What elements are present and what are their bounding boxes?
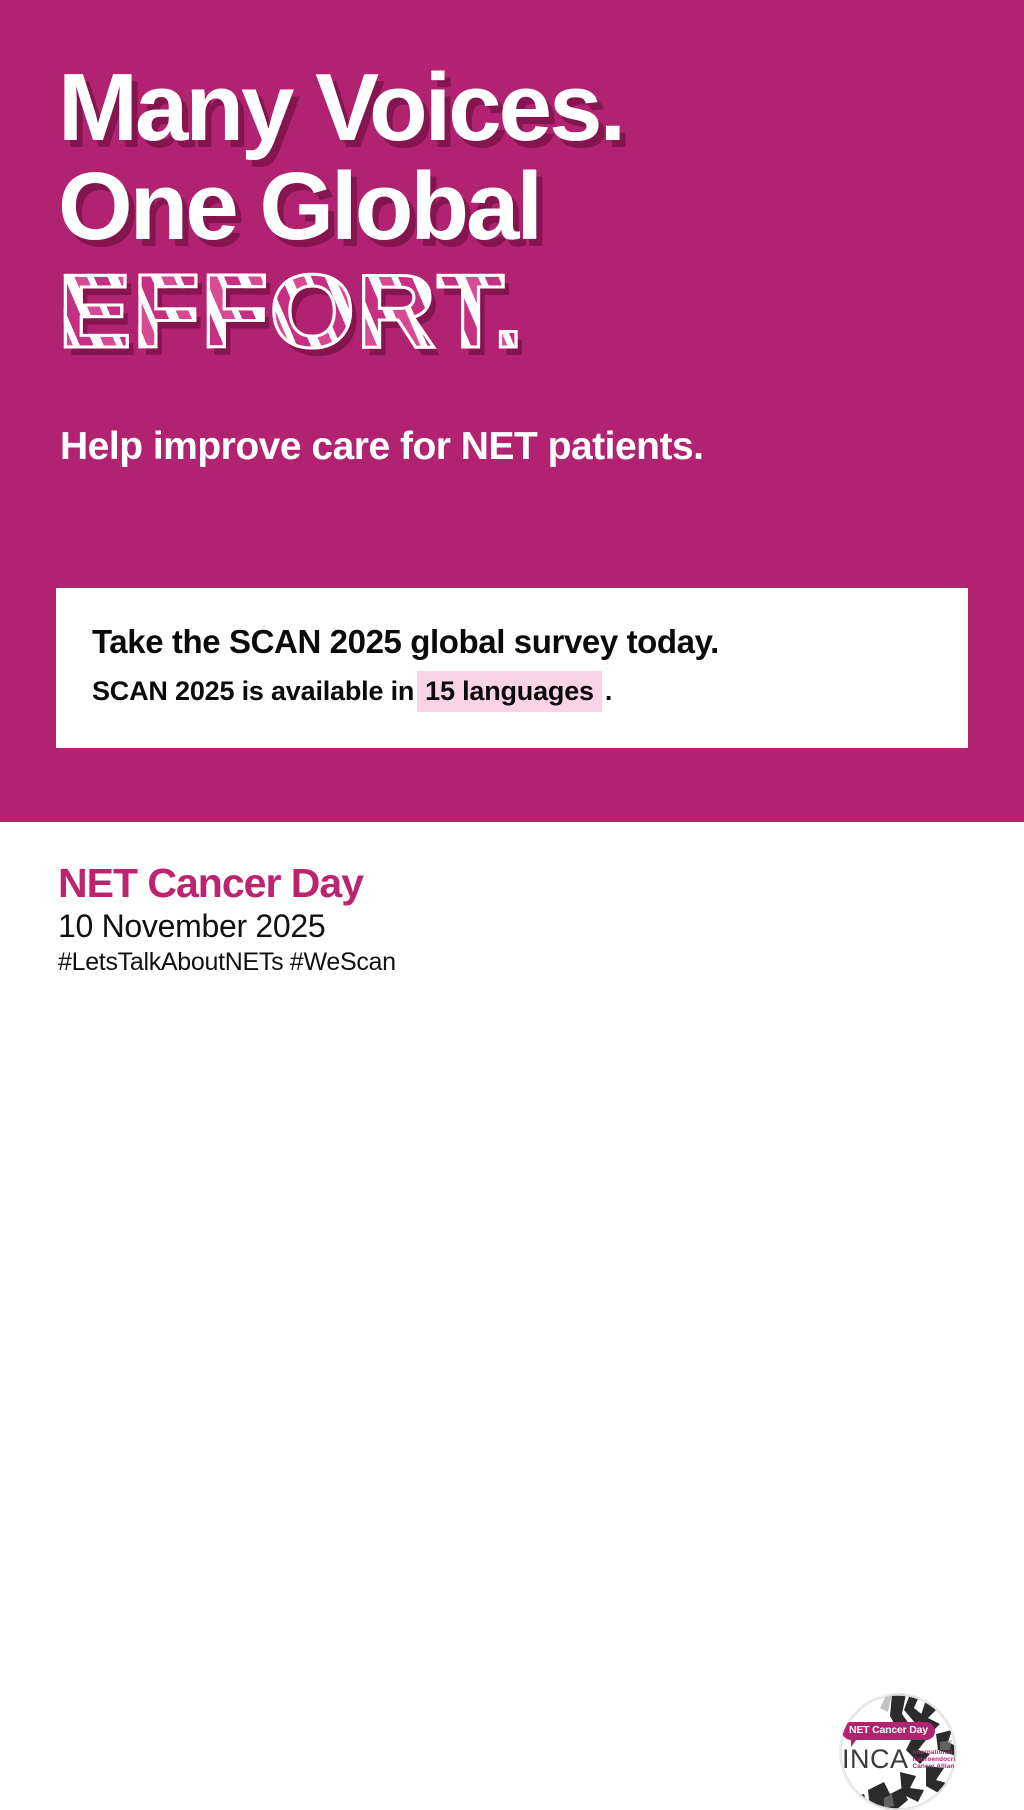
logo-lockup: NET Cancer Day INCA International Neuroe… (840, 1720, 956, 1773)
brand-title: NET Cancer Day (58, 860, 396, 906)
net-cancer-day-bubble: NET Cancer Day (842, 1722, 935, 1740)
inca-logo-badge: NET Cancer Day INCA International Neuroe… (840, 1694, 956, 1810)
survey-languages-prefix: SCAN 2025 is available in (92, 676, 414, 706)
footer-text-block: NET Cancer Day 10 November 2025 #LetsTal… (58, 860, 396, 978)
survey-languages-line: SCAN 2025 is available in15 languages. (92, 674, 948, 708)
subheadline: Help improve care for NET patients. (60, 424, 704, 470)
headline-line-3-zebra: EFFORT. EFFORT. (58, 260, 998, 364)
survey-card: Take the SCAN 2025 global survey today. … (56, 588, 968, 748)
inca-acronym: INCA (842, 1746, 909, 1773)
survey-cta-text: Take the SCAN 2025 global survey today. (92, 622, 948, 662)
footer-section: NET Cancer Day 10 November 2025 #LetsTal… (0, 822, 1024, 1024)
inca-wordmark-row: INCA International Neuroendocrine Cancer… (842, 1746, 956, 1773)
survey-card-content: Take the SCAN 2025 global survey today. … (92, 622, 948, 708)
bubble-label: NET Cancer Day (849, 1725, 928, 1736)
languages-count-badge: 15 languages (417, 671, 602, 712)
survey-languages-suffix: . (605, 676, 612, 706)
headline-line-2: One Global (58, 157, 998, 256)
inca-name-line-3: Cancer Alliance (913, 1763, 956, 1770)
inca-name-line-2: Neuroendocrine (913, 1756, 956, 1763)
hashtags: #LetsTalkAboutNETs #WeScan (58, 946, 396, 978)
headline-block: Many Voices. One Global EFFORT. EFFORT. (58, 58, 998, 364)
poster-canvas: Many Voices. One Global EFFORT. EFFORT. … (0, 0, 1024, 1024)
inca-name-line-1: International (913, 1749, 953, 1756)
headline-line-1: Many Voices. (58, 58, 998, 157)
hero-section: Many Voices. One Global EFFORT. EFFORT. … (0, 0, 1024, 822)
event-date: 10 November 2025 (58, 906, 396, 946)
inca-full-name: International Neuroendocrine Cancer Alli… (913, 1749, 956, 1771)
headline-line-3-text: EFFORT. (58, 260, 525, 364)
